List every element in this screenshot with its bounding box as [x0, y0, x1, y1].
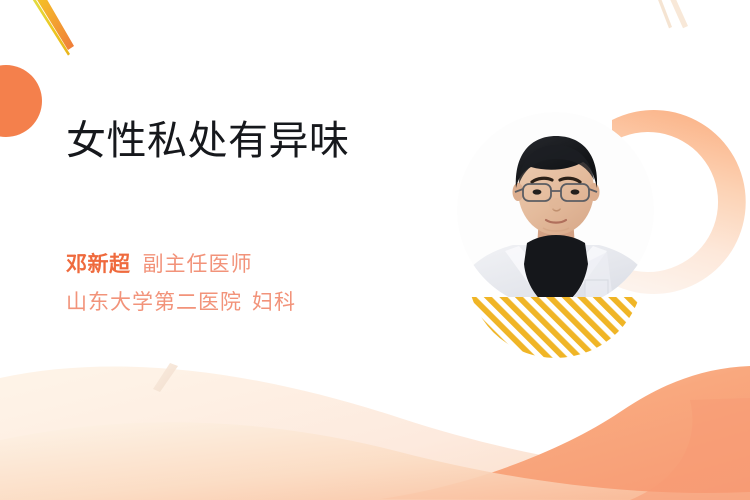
wave-dark: [380, 366, 750, 500]
small-diagonal-stroke: [153, 363, 178, 392]
doctor-info: 邓新超副主任医师 山东大学第二医院妇科: [66, 246, 296, 322]
eye-left: [533, 189, 542, 194]
top-right-strokes: [654, 0, 688, 28]
top-left-stroke-orange: [31, 0, 74, 50]
ear-left: [513, 183, 524, 201]
bottom-wave-group: [0, 366, 750, 500]
doctor-hospital: 山东大学第二医院: [66, 291, 242, 314]
doctor-portrait: [457, 112, 654, 309]
portrait-circle-clip: [457, 112, 654, 309]
eye-right: [571, 189, 580, 194]
doctor-department: 妇科: [252, 291, 296, 314]
doctor-rank: 副主任医师: [143, 253, 253, 276]
doctor-info-line-1: 邓新超副主任医师: [66, 246, 296, 284]
ear-right: [589, 183, 600, 201]
doctor-name: 邓新超: [66, 253, 131, 276]
left-orange-circle: [0, 65, 42, 137]
top-right-stroke-a: [654, 0, 672, 28]
top-left-strokes: [29, 0, 74, 56]
nose-bridge: [549, 198, 563, 210]
doctor-info-line-2: 山东大学第二医院妇科: [66, 284, 296, 322]
portrait-illustration: [457, 112, 654, 309]
wave-dark-lobe: [630, 398, 750, 500]
doctor-topic-card: 女性私处有异味 邓新超副主任医师 山东大学第二医院妇科: [0, 0, 750, 500]
top-left-stroke-yellow: [29, 0, 70, 56]
top-right-stroke-b: [665, 0, 688, 28]
wave-light: [0, 366, 750, 500]
wave-mid: [0, 422, 750, 500]
page-title: 女性私处有异味: [66, 118, 350, 164]
